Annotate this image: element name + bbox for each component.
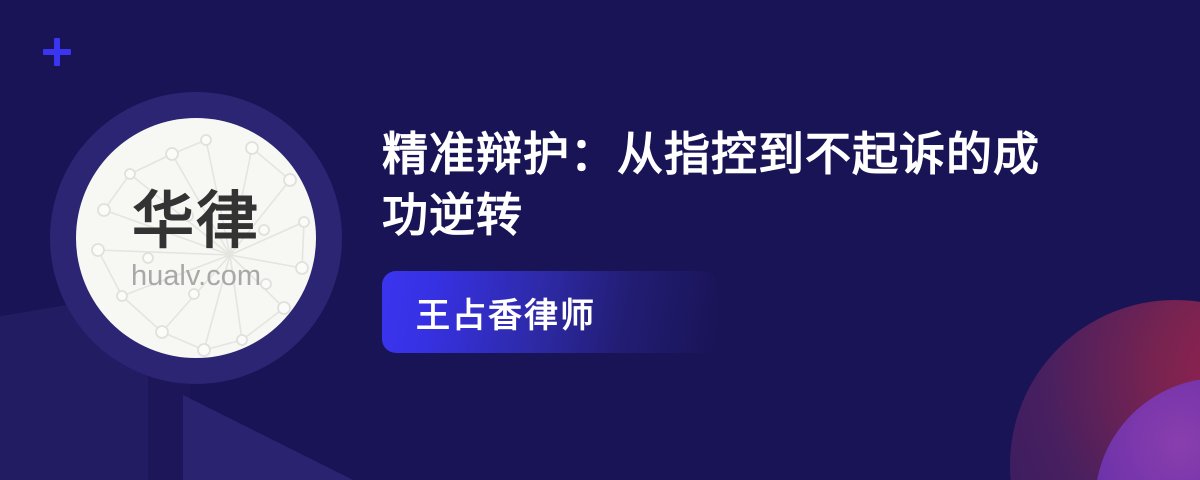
logo-wordmark: 华律 (132, 190, 260, 252)
author-name: 王占香律师 (416, 288, 596, 337)
logo-badge: 华律 hualv.com (76, 118, 316, 358)
article-cover-banner: 华律 hualv.com 精准辩护：从指控到不起诉的成功逆转 王占香律师 (0, 0, 1200, 480)
logo-text-block: 华律 hualv.com (76, 118, 316, 358)
author-badge: 王占香律师 (382, 271, 717, 353)
page-title: 精准辩护：从指控到不起诉的成功逆转 (382, 124, 1062, 245)
decor-triangle-bottom (183, 395, 363, 480)
logo-domain-text: hualv.com (131, 262, 261, 291)
plus-icon (43, 38, 71, 66)
content-column: 精准辩护：从指控到不起诉的成功逆转 王占香律师 (382, 124, 1082, 353)
decor-circle-inner (1095, 378, 1200, 480)
